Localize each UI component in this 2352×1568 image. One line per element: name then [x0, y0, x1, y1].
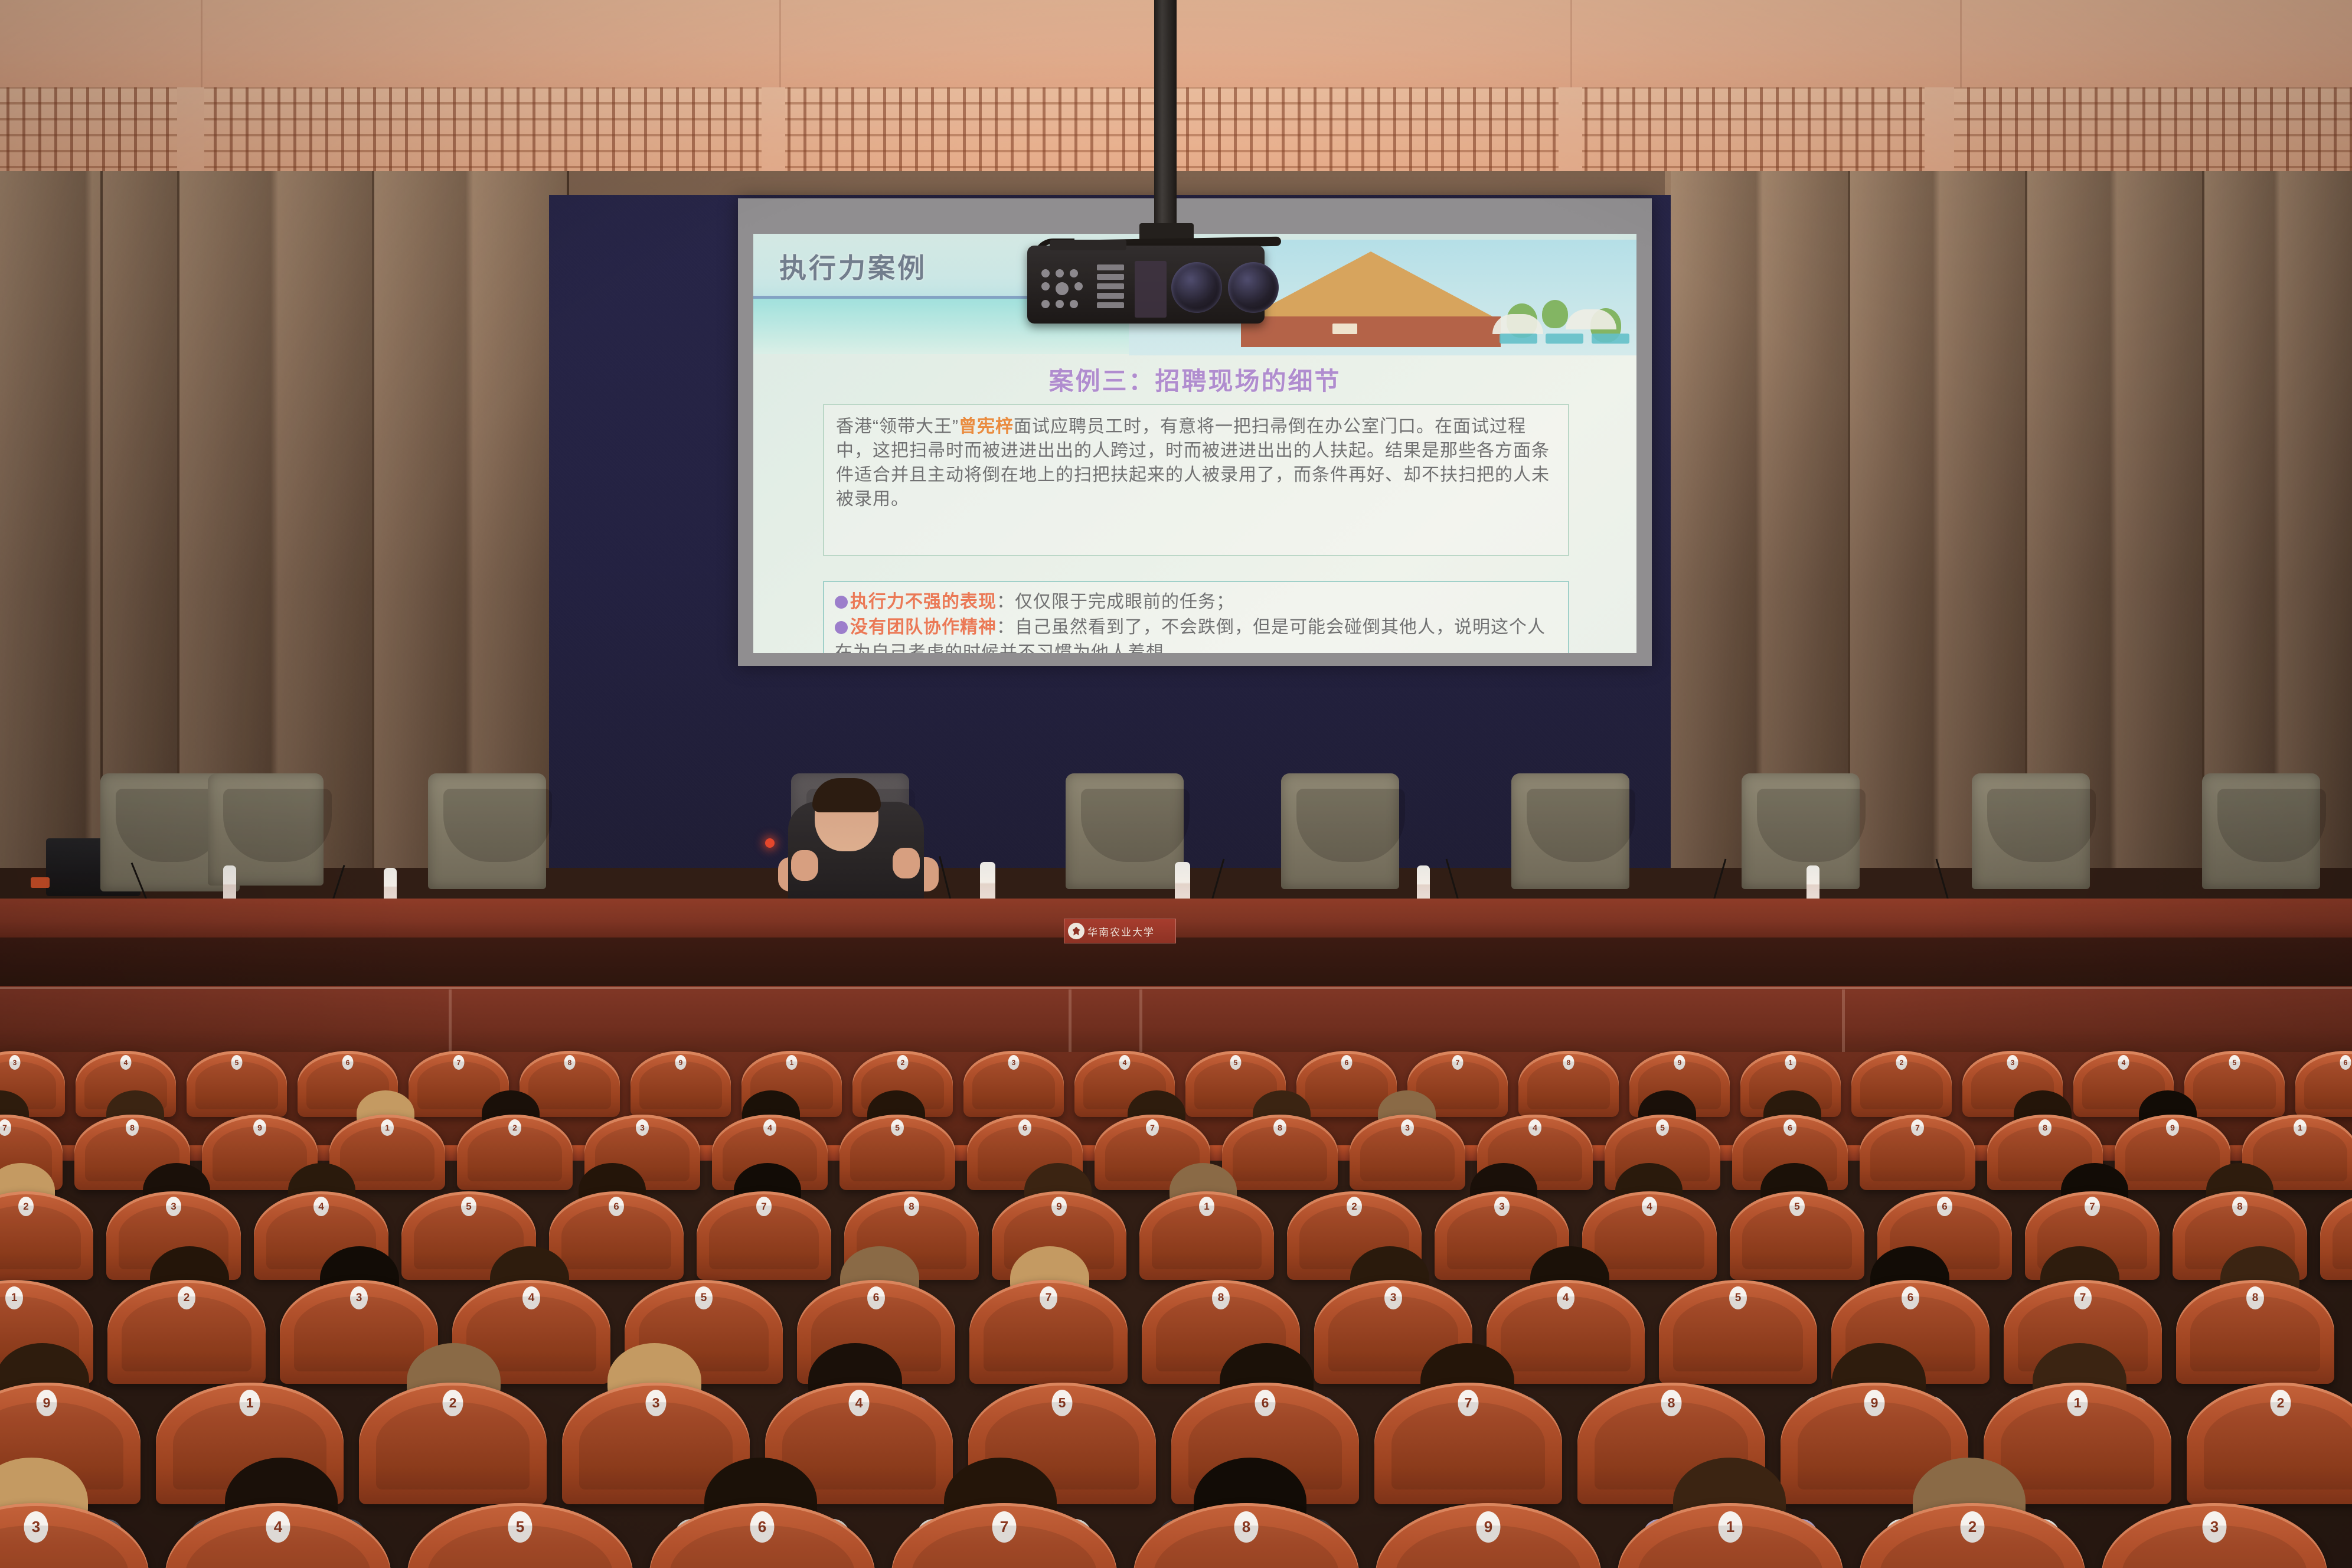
stage-apron	[0, 986, 2352, 1054]
seat-number-label: 8	[1234, 1511, 1259, 1543]
seat-number-label: 5	[231, 1055, 243, 1070]
seat-number-label: 4	[2118, 1055, 2129, 1070]
audience-seat[interactable]: 2	[1851, 1051, 1952, 1117]
seat-number-label: 6	[867, 1286, 885, 1309]
audience-seat[interactable]: 3	[0, 1503, 149, 1568]
audience-seat[interactable]: 8	[1518, 1051, 1619, 1117]
seat-number-label: 9	[2166, 1119, 2179, 1136]
seat-number-label: 3	[646, 1390, 667, 1416]
seat-number-label: 6	[1902, 1286, 1919, 1309]
seat-number-label: 8	[126, 1119, 139, 1136]
seat-number-label: 2	[18, 1197, 34, 1216]
wood-wall-panel	[1671, 171, 1848, 868]
seat-number-label: 5	[695, 1286, 713, 1309]
audience-seat[interactable]: 1	[1139, 1191, 1274, 1280]
wood-wall-panel	[177, 171, 372, 868]
seat-number-label: 9	[675, 1055, 687, 1070]
audience-seat[interactable]: 2	[107, 1280, 266, 1384]
seat-number-label: 8	[1273, 1119, 1286, 1136]
seat-number-label: 7	[1040, 1286, 1057, 1309]
stage-chair[interactable]	[428, 773, 546, 889]
audience-seat[interactable]: 9	[1376, 1503, 1601, 1568]
seat-number-label: 4	[1642, 1197, 1657, 1216]
audience-seat[interactable]: 5	[407, 1503, 633, 1568]
seat-number-label: 1	[1719, 1511, 1743, 1543]
seat-number-label: 5	[1230, 1055, 1242, 1070]
seat-number-label: 6	[342, 1055, 354, 1070]
seat-number-label: 9	[1476, 1511, 1501, 1543]
mic-status-led-icon	[765, 838, 775, 848]
audience-seat[interactable]: 5	[839, 1115, 955, 1190]
seat-number-label: 8	[1212, 1286, 1230, 1309]
water-bottle[interactable]	[1417, 865, 1430, 903]
seat-number-label: 6	[1255, 1390, 1276, 1416]
seat-number-label: 3	[1401, 1119, 1414, 1136]
seat-number-label: 5	[461, 1197, 476, 1216]
seat-number-label: 8	[904, 1197, 919, 1216]
seat-number-label: 4	[266, 1511, 290, 1543]
seat-number-label: 1	[240, 1390, 260, 1416]
head-table-top	[0, 899, 2352, 940]
stage-chair[interactable]	[1511, 773, 1629, 889]
seat-number-label: 3	[2203, 1511, 2227, 1543]
seat-number-label: 6	[1937, 1197, 1952, 1216]
seat-number-label: 4	[763, 1119, 776, 1136]
presenter-hand	[893, 848, 920, 878]
seat-number-label: 6	[750, 1511, 775, 1543]
audience-seat[interactable]: 2	[2187, 1383, 2352, 1504]
wall-divider	[2202, 171, 2204, 868]
projector-indicator-bars	[1097, 264, 1128, 315]
seat-number-label: 4	[849, 1390, 870, 1416]
seat-number-label: 8	[2246, 1286, 2264, 1309]
seat-number-label: 2	[178, 1286, 195, 1309]
projector-top-plate	[1050, 240, 1126, 250]
audience-seat[interactable]: 2	[1860, 1503, 2085, 1568]
stage-chair[interactable]	[1281, 773, 1399, 889]
seat-number-label: 7	[0, 1119, 11, 1136]
wall-divider	[100, 171, 103, 868]
audience-seat[interactable]: 3	[2102, 1503, 2327, 1568]
seat-number-label: 2	[443, 1390, 463, 1416]
seat-number-label: 3	[9, 1055, 21, 1070]
seat-number-label: 1	[5, 1286, 23, 1309]
seat-number-label: 1	[2294, 1119, 2307, 1136]
seat-number-label: 6	[1018, 1119, 1031, 1136]
ceiling-seam	[1960, 0, 1962, 89]
story-text-run: 香港“领带大王”	[836, 417, 959, 436]
slide-case-title: 案例三：招聘现场的细节	[753, 361, 1636, 397]
audience-seat[interactable]: 5	[1730, 1191, 1864, 1280]
university-name-plaque: 华南农业大学	[1064, 919, 1176, 943]
seat-number-label: 8	[564, 1055, 576, 1070]
seat-number-label: 5	[891, 1119, 904, 1136]
seat-number-label: 2	[897, 1055, 909, 1070]
wood-wall-panel	[0, 171, 177, 868]
presenter-hand	[791, 850, 818, 881]
seat-number-label: 4	[1528, 1119, 1541, 1136]
wall-divider	[1848, 171, 1850, 868]
stage-edge-highlight	[0, 987, 2352, 989]
projector-mount-rod	[1154, 0, 1177, 231]
seat-number-label: 3	[1494, 1197, 1510, 1216]
audience-seat[interactable]: 8	[2176, 1280, 2334, 1384]
seat-number-label: 9	[1864, 1390, 1885, 1416]
ceiling-seam	[201, 0, 202, 89]
slide-header-title: 执行力案例	[779, 247, 927, 286]
audience-seat[interactable]: 8	[1133, 1503, 1359, 1568]
seat-number-label: 1	[1199, 1197, 1214, 1216]
audience-seat[interactable]: 6	[549, 1191, 684, 1280]
stage-chair[interactable]	[1972, 773, 2090, 889]
wall-divider	[2025, 171, 2027, 868]
wall-divider	[372, 171, 374, 868]
seat-number-label: 5	[508, 1511, 533, 1543]
seat-number-label: 6	[2340, 1055, 2351, 1070]
audience-seat[interactable]: 9	[2320, 1191, 2352, 1280]
projector-lens-icon	[1228, 262, 1279, 313]
audience-seat[interactable]: 7	[1374, 1383, 1562, 1504]
seat-number-label: 4	[313, 1197, 329, 1216]
panel-gap	[762, 87, 785, 173]
panel-gap	[177, 87, 204, 173]
seat-number-label: 7	[1146, 1119, 1159, 1136]
water-bottle[interactable]	[223, 865, 236, 903]
projector-display-panel	[1135, 261, 1167, 318]
slide-bullet-box: 执行力不强的表现：仅仅限于完成眼前的任务；没有团队协作精神：自己虽然看到了，不会…	[823, 581, 1569, 653]
audience-seat[interactable]: 5	[1659, 1280, 1817, 1384]
slide-story-text: 香港“领带大王”曾宪梓面试应聘员工时，有意将一把扫帚倒在办公室门口。在面试过程中…	[836, 414, 1556, 511]
seat-number-label: 5	[2229, 1055, 2240, 1070]
audience-seat[interactable]: 6	[649, 1503, 875, 1568]
seat-number-label: 7	[1452, 1055, 1464, 1070]
seat-number-label: 9	[253, 1119, 266, 1136]
audience-seating: 3456789123456789123456789123456783456789…	[0, 1045, 2352, 1568]
seat-number-label: 5	[1729, 1286, 1747, 1309]
seat-number-label: 7	[1458, 1390, 1479, 1416]
wood-wall-panel	[2025, 171, 2202, 868]
university-seal-icon	[1068, 923, 1084, 939]
bullet-label: 执行力不强的表现	[850, 592, 997, 612]
seat-number-label: 2	[1961, 1511, 1985, 1543]
seat-number-label: 3	[2007, 1055, 2018, 1070]
wood-wall-panel	[1848, 171, 2025, 868]
seat-number-label: 4	[522, 1286, 540, 1309]
seat-number-label: 1	[786, 1055, 798, 1070]
seat-number-label: 3	[1384, 1286, 1402, 1309]
seat-number-label: 3	[1008, 1055, 1020, 1070]
seat-number-label: 7	[756, 1197, 772, 1216]
seat-number-label: 7	[1911, 1119, 1924, 1136]
audience-seat[interactable]: 2	[0, 1191, 93, 1280]
ceiling-seam	[1570, 0, 1572, 89]
audience-seat[interactable]: 3	[1350, 1115, 1465, 1190]
seat-number-label: 7	[2074, 1286, 2092, 1309]
stage-chair[interactable]	[2202, 773, 2320, 889]
seat-number-label: 2	[1347, 1197, 1362, 1216]
seat-number-label: 8	[1563, 1055, 1574, 1070]
seat-number-label: 5	[1656, 1119, 1669, 1136]
seat-number-label: 1	[1785, 1055, 1796, 1070]
wall-divider	[177, 171, 179, 868]
seat-number-label: 6	[1341, 1055, 1353, 1070]
seat-number-label: 2	[2271, 1390, 2291, 1416]
panel-gap	[1559, 87, 1582, 173]
seat-number-label: 2	[1896, 1055, 1907, 1070]
bullet-dot-icon	[835, 596, 848, 609]
seat-number-label: 4	[1119, 1055, 1131, 1070]
audience-seat[interactable]: 7	[891, 1503, 1117, 1568]
slide-story-box: 香港“领带大王”曾宪梓面试应聘员工时，有意将一把扫帚倒在办公室门口。在面试过程中…	[823, 404, 1569, 556]
audience-seat[interactable]: 3	[963, 1051, 1064, 1117]
ceiling-seam	[779, 0, 781, 89]
seat-number-label: 3	[166, 1197, 181, 1216]
audience-seat[interactable]: 4	[165, 1503, 391, 1568]
seat-number-label: 6	[1783, 1119, 1796, 1136]
seat-number-label: 2	[508, 1119, 521, 1136]
seat-number-label: 8	[2039, 1119, 2052, 1136]
audience-seat[interactable]: 5	[2184, 1051, 2285, 1117]
stage-chair[interactable]	[1742, 773, 1860, 889]
audience-seat[interactable]: 6	[2295, 1051, 2352, 1117]
slide-bullet-item: 执行力不强的表现：仅仅限于完成眼前的任务；	[835, 589, 1557, 615]
slide-bullet-item: 没有团队协作精神：自己虽然看到了，不会跌倒，但是可能会碰倒其他人，说明这个人在为…	[835, 615, 1557, 653]
seat-number-label: 7	[2085, 1197, 2100, 1216]
water-bottle[interactable]	[1807, 865, 1819, 903]
seat-number-label: 1	[2067, 1390, 2088, 1416]
seat-number-label: 4	[120, 1055, 132, 1070]
audience-seat[interactable]: 1	[1618, 1503, 1843, 1568]
audience-seat[interactable]: 7	[969, 1280, 1128, 1384]
auditorium-scene: 执行力案例 案例三：招聘现场的细节 香港“领带大王”曾宪梓面试应聘员工时，有意将…	[0, 0, 2352, 1568]
wood-wall-panel	[2202, 171, 2352, 868]
plaque-label: 华南农业大学	[1087, 924, 1155, 939]
seat-number-label: 3	[350, 1286, 368, 1309]
seat-number-label: 9	[37, 1390, 57, 1416]
seat-number-label: 5	[1789, 1197, 1805, 1216]
seat-number-label: 3	[636, 1119, 649, 1136]
audience-seat[interactable]: 2	[457, 1115, 573, 1190]
seat-number-label: 1	[381, 1119, 394, 1136]
seat-number-label: 4	[1557, 1286, 1574, 1309]
seat-number-label: 3	[24, 1511, 48, 1543]
bullet-label: 没有团队协作精神	[850, 618, 997, 637]
audience-seat[interactable]: 7	[1860, 1115, 1975, 1190]
seat-number-label: 8	[1661, 1390, 1682, 1416]
seat-number-label: 8	[2232, 1197, 2248, 1216]
seat-number-label: 7	[992, 1511, 1017, 1543]
audience-seat[interactable]: 9	[631, 1051, 731, 1117]
seat-number-label: 6	[609, 1197, 624, 1216]
audience-seat[interactable]: 8	[1222, 1115, 1338, 1190]
seat-number-label: 5	[1052, 1390, 1073, 1416]
audience-seat[interactable]: 7	[697, 1191, 831, 1280]
stage-chair[interactable]	[1066, 773, 1184, 889]
bullet-dot-icon	[835, 621, 848, 634]
bullet-body: ：仅仅限于完成眼前的任务；	[997, 592, 1234, 612]
seat-number-label: 7	[453, 1055, 465, 1070]
wood-wall-panel	[372, 171, 567, 868]
projector-keypad[interactable]	[1041, 269, 1087, 312]
panel-gap	[1925, 87, 1954, 173]
audience-seat[interactable]: 5	[187, 1051, 287, 1117]
projector-lens-icon	[1171, 262, 1222, 313]
seat-number-label: 9	[1051, 1197, 1067, 1216]
story-highlight-name: 曾宪梓	[959, 417, 1014, 436]
audience-seat[interactable]: 2	[359, 1383, 547, 1504]
seat-number-label: 9	[1674, 1055, 1685, 1070]
